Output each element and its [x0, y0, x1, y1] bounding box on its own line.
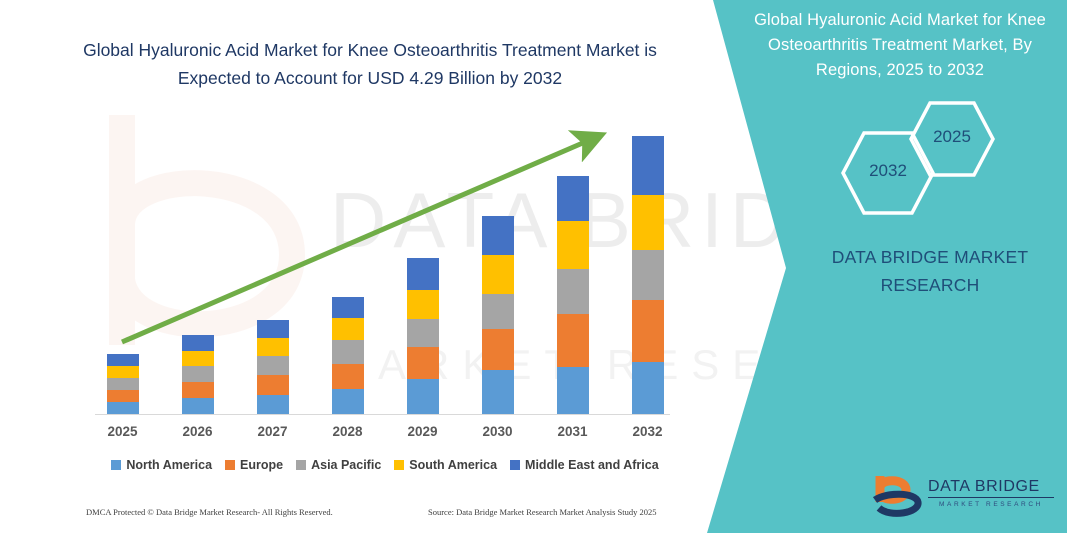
bar-segment	[557, 221, 589, 270]
bar-segment	[257, 320, 289, 338]
hexagon-start-year-label: 2025	[908, 127, 996, 147]
bar-segment	[557, 314, 589, 367]
hexagon-start-year: 2025	[908, 100, 996, 178]
legend-swatch-icon	[225, 460, 235, 470]
company-logo-name: DATA BRIDGE	[928, 478, 1054, 498]
bar-2030	[482, 216, 514, 414]
bar-chart-bars	[85, 110, 685, 414]
x-axis-label-2027: 2027	[243, 424, 303, 439]
chart-legend: North AmericaEuropeAsia PacificSouth Ame…	[85, 455, 685, 475]
bar-segment	[407, 347, 439, 379]
bar-segment	[107, 402, 139, 414]
side-panel-title: Global Hyaluronic Acid Market for Knee O…	[745, 8, 1055, 83]
bar-segment	[632, 362, 664, 414]
bar-segment	[557, 367, 589, 414]
bar-segment	[632, 195, 664, 250]
legend-label: Asia Pacific	[311, 458, 381, 472]
bar-segment	[257, 395, 289, 414]
bar-segment	[482, 370, 514, 414]
bar-segment	[332, 297, 364, 318]
bar-segment	[407, 379, 439, 414]
bar-segment	[332, 318, 364, 340]
infographic-root: DATA BRIDGE MARKET RESEARCH Global Hyalu…	[0, 0, 1067, 533]
company-logo-subtitle: MARKET RESEARCH	[928, 501, 1054, 509]
bar-segment	[632, 300, 664, 362]
legend-label: Europe	[240, 458, 283, 472]
bar-2027	[257, 320, 289, 414]
bar-segment	[332, 340, 364, 364]
bar-segment	[182, 382, 214, 398]
page-title: Global Hyaluronic Acid Market for Knee O…	[70, 36, 670, 92]
legend-label: North America	[126, 458, 212, 472]
x-axis-label-2028: 2028	[318, 424, 378, 439]
x-axis-label-2025: 2025	[93, 424, 153, 439]
legend-label: South America	[409, 458, 497, 472]
bar-2028	[332, 297, 364, 414]
side-panel-brand-line2: RESEARCH	[770, 271, 1067, 299]
bar-2029	[407, 258, 439, 414]
bar-segment	[632, 250, 664, 300]
x-axis-label-2030: 2030	[468, 424, 528, 439]
bar-segment	[257, 338, 289, 356]
footer-source: Source: Data Bridge Market Research Mark…	[428, 507, 657, 517]
bar-segment	[482, 255, 514, 294]
bar-segment	[407, 290, 439, 319]
legend-item[interactable]: Asia Pacific	[296, 458, 381, 472]
bar-segment	[107, 378, 139, 390]
x-axis-label-2026: 2026	[168, 424, 228, 439]
bar-segment	[107, 390, 139, 402]
company-logo: DATA BRIDGE MARKET RESEARCH	[872, 472, 1052, 522]
bar-segment	[557, 269, 589, 313]
bar-segment	[182, 351, 214, 366]
bar-segment	[332, 389, 364, 414]
legend-swatch-icon	[510, 460, 520, 470]
bar-segment	[182, 335, 214, 351]
x-axis-label-2032: 2032	[618, 424, 678, 439]
bar-2025	[107, 354, 139, 414]
bar-segment	[332, 364, 364, 389]
footer-copyright: DMCA Protected © Data Bridge Market Rese…	[86, 507, 333, 517]
legend-item[interactable]: North America	[111, 458, 212, 472]
bar-segment	[557, 176, 589, 220]
bar-segment	[257, 375, 289, 394]
bar-segment	[482, 329, 514, 370]
year-hexagons: 2032 2025	[820, 100, 1010, 215]
bar-segment	[182, 366, 214, 382]
bar-segment	[482, 294, 514, 329]
x-axis-label-2031: 2031	[543, 424, 603, 439]
legend-item[interactable]: South America	[394, 458, 497, 472]
legend-label: Middle East and Africa	[525, 458, 659, 472]
company-logo-icon	[872, 474, 924, 518]
bar-segment	[632, 136, 664, 195]
company-logo-text: DATA BRIDGE MARKET RESEARCH	[928, 478, 1054, 509]
legend-swatch-icon	[394, 460, 404, 470]
bar-segment	[407, 258, 439, 290]
bar-segment	[107, 366, 139, 378]
bar-segment	[407, 319, 439, 347]
bar-segment	[482, 216, 514, 255]
side-panel-brand-line1: DATA BRIDGE MARKET	[770, 243, 1067, 271]
legend-item[interactable]: Europe	[225, 458, 283, 472]
bar-2032	[632, 136, 664, 414]
x-axis-labels: 20252026202720282029203020312032	[85, 424, 685, 446]
bar-segment	[257, 356, 289, 375]
x-axis-label-2029: 2029	[393, 424, 453, 439]
x-axis-line	[95, 414, 670, 415]
bar-segment	[107, 354, 139, 367]
legend-swatch-icon	[111, 460, 121, 470]
bar-2031	[557, 176, 589, 414]
bar-segment	[182, 398, 214, 414]
side-panel-brand: DATA BRIDGE MARKET RESEARCH	[770, 243, 1067, 299]
legend-item[interactable]: Middle East and Africa	[510, 458, 659, 472]
bar-2026	[182, 335, 214, 414]
legend-swatch-icon	[296, 460, 306, 470]
